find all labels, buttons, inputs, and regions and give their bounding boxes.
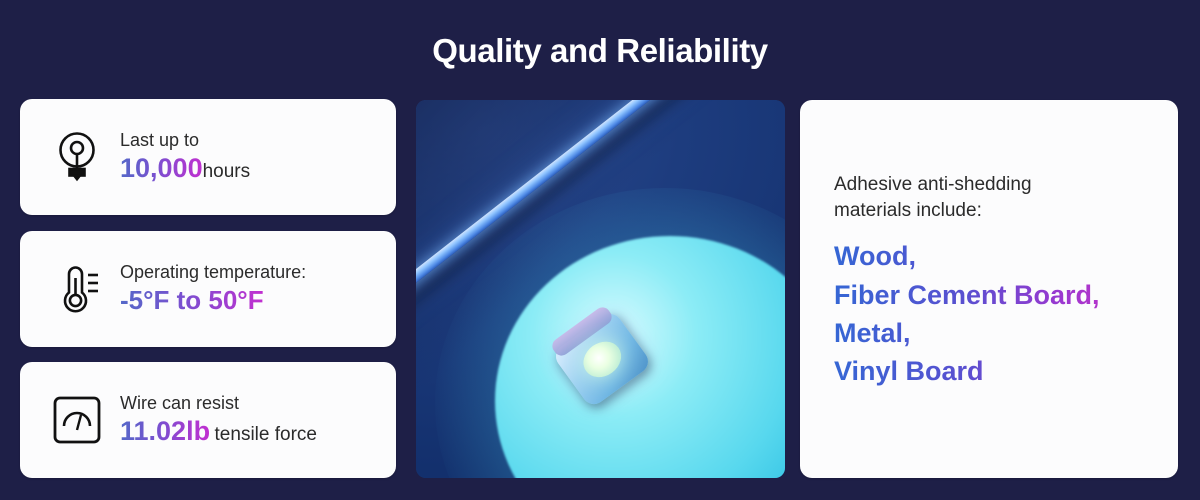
spec-card-list: Last up to 10,000hours Operating tem (20, 99, 396, 478)
materials-list-item: Fiber Cement Board, (834, 276, 1152, 314)
spec-label-tensile: Wire can resist (120, 392, 317, 415)
led-strip-module-photo (416, 100, 785, 478)
materials-card: Adhesive anti-shedding materials include… (800, 100, 1178, 478)
materials-list-item: Vinyl Board (834, 352, 1152, 390)
materials-list: Wood, Fiber Cement Board, Metal, Vinyl B… (834, 237, 1152, 390)
lightbulb-icon (46, 126, 108, 188)
spec-value-row-tensile: 11.02lb tensile force (120, 416, 317, 448)
spec-card-temperature: Operating temperature: -5°F to 50°F (20, 231, 396, 347)
spec-unit-tensile: tensile force (215, 424, 317, 445)
spec-unit-lifetime: hours (203, 161, 251, 182)
spec-value-lifetime: 10,000 (120, 153, 203, 183)
infographic-board: Quality and Reliability Last up to 10,00… (0, 0, 1200, 500)
spec-value-temperature: -5°F to 50°F (120, 285, 264, 315)
materials-list-item: Metal, (834, 314, 1152, 352)
materials-intro: Adhesive anti-shedding materials include… (834, 172, 1084, 223)
spec-label-temperature: Operating temperature: (120, 261, 306, 284)
spec-card-text: Operating temperature: -5°F to 50°F (120, 261, 306, 316)
page-title: Quality and Reliability (0, 0, 1200, 67)
thermometer-icon (46, 258, 108, 320)
spec-value-tensile: 11.02lb (120, 416, 210, 446)
gauge-icon (46, 389, 108, 451)
spec-card-text: Last up to 10,000hours (120, 129, 250, 185)
spec-card-text: Wire can resist 11.02lb tensile force (120, 392, 317, 448)
spec-value-row-lifetime: 10,000hours (120, 153, 250, 185)
spec-value-row-temperature: -5°F to 50°F (120, 285, 306, 316)
spec-label-lifetime: Last up to (120, 129, 250, 152)
spec-card-lifetime: Last up to 10,000hours (20, 99, 396, 215)
spec-card-tensile: Wire can resist 11.02lb tensile force (20, 362, 396, 478)
materials-list-item: Wood, (834, 237, 1152, 275)
